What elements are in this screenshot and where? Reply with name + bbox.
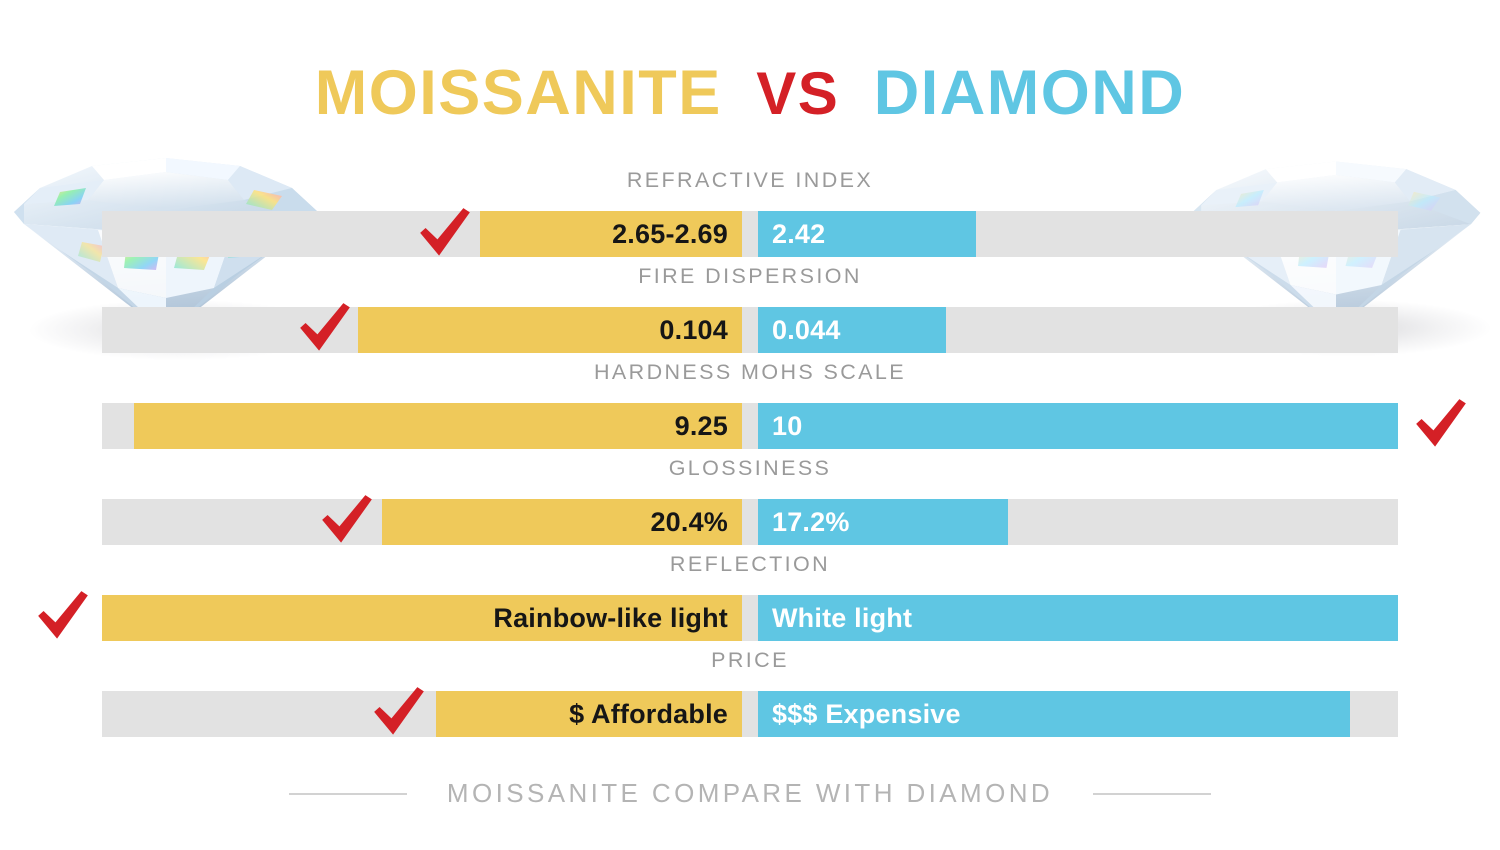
diamond-value: 0.044 (772, 315, 841, 346)
footer-caption: MOISSANITE COMPARE WITH DIAMOND (447, 778, 1053, 809)
winner-check-icon (298, 302, 352, 356)
row-track: 2.65-2.692.42 (102, 211, 1398, 257)
footer-rule-left (289, 793, 407, 795)
comparison-row: GLOSSINESS20.4%17.2% (0, 458, 1500, 482)
winner-check-icon (418, 207, 472, 261)
footer-rule-right (1093, 793, 1211, 795)
footer: MOISSANITE COMPARE WITH DIAMOND (0, 778, 1500, 809)
moissanite-value: $ Affordable (569, 699, 728, 730)
row-track: $ Affordable$$$ Expensive (102, 691, 1398, 737)
diamond-bar[interactable]: 17.2% (758, 499, 1008, 545)
row-label: PRICE (0, 650, 1500, 674)
diamond-bar[interactable]: 2.42 (758, 211, 976, 257)
title-diamond: DIAMOND (874, 62, 1185, 125)
comparison-row: PRICE$ Affordable$$$ Expensive (0, 650, 1500, 674)
moissanite-value: Rainbow-like light (493, 603, 728, 634)
page-title: MOISSANITE VS DIAMOND (0, 62, 1500, 125)
moissanite-value: 0.104 (659, 315, 728, 346)
comparison-row: FIRE DISPERSION0.1040.044 (0, 266, 1500, 290)
comparison-row: REFLECTIONRainbow-like lightWhite light (0, 554, 1500, 578)
winner-check-icon (1414, 398, 1468, 452)
diamond-bar[interactable]: $$$ Expensive (758, 691, 1350, 737)
winner-check-icon (36, 590, 90, 644)
row-label: HARDNESS MOHS SCALE (0, 362, 1500, 386)
moissanite-bar[interactable]: 9.25 (134, 403, 742, 449)
diamond-value: 2.42 (772, 219, 825, 250)
diamond-value: 10 (772, 411, 802, 442)
diamond-value: $$$ Expensive (772, 699, 961, 730)
moissanite-bar[interactable]: 2.65-2.69 (480, 211, 742, 257)
moissanite-bar[interactable]: 20.4% (382, 499, 742, 545)
diamond-bar[interactable]: 0.044 (758, 307, 946, 353)
winner-check-icon (320, 494, 374, 548)
row-track: 0.1040.044 (102, 307, 1398, 353)
diamond-bar[interactable]: White light (758, 595, 1398, 641)
moissanite-value: 20.4% (650, 507, 728, 538)
diamond-value: 17.2% (772, 507, 850, 538)
moissanite-value: 9.25 (675, 411, 728, 442)
title-moissanite: MOISSANITE (315, 62, 722, 125)
winner-check-icon (372, 686, 426, 740)
moissanite-bar[interactable]: 0.104 (358, 307, 742, 353)
row-label: REFRACTIVE INDEX (0, 170, 1500, 194)
row-track: 9.2510 (102, 403, 1398, 449)
row-track: 20.4%17.2% (102, 499, 1398, 545)
row-track: Rainbow-like lightWhite light (102, 595, 1398, 641)
row-label: REFLECTION (0, 554, 1500, 578)
infographic-canvas: MOISSANITE VS DIAMOND (0, 0, 1500, 850)
row-label: GLOSSINESS (0, 458, 1500, 482)
moissanite-bar[interactable]: Rainbow-like light (102, 595, 742, 641)
moissanite-bar[interactable]: $ Affordable (436, 691, 742, 737)
comparison-row: REFRACTIVE INDEX2.65-2.692.42 (0, 170, 1500, 194)
title-vs: VS (756, 64, 839, 124)
diamond-value: White light (772, 603, 912, 634)
diamond-bar[interactable]: 10 (758, 403, 1398, 449)
moissanite-value: 2.65-2.69 (612, 219, 728, 250)
row-label: FIRE DISPERSION (0, 266, 1500, 290)
comparison-row: HARDNESS MOHS SCALE9.2510 (0, 362, 1500, 386)
